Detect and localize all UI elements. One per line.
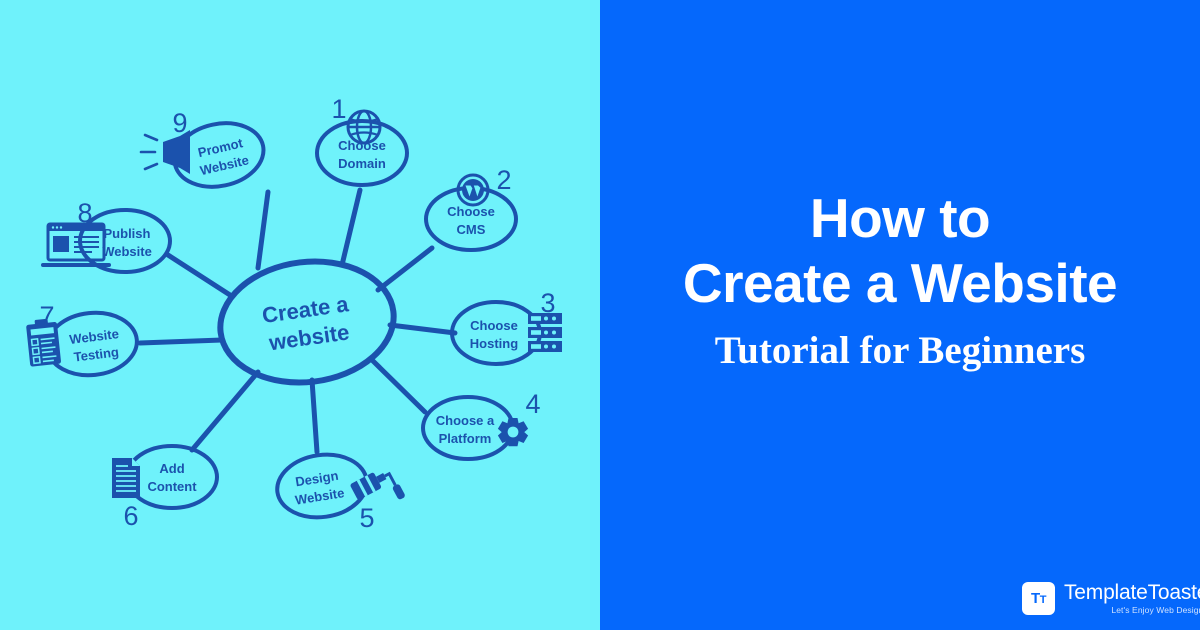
brand-name: TemplateToaster [1064, 582, 1200, 603]
node-1-choose-domain[interactable]: 1 Choose Domain [317, 94, 407, 185]
node-6-add-content[interactable]: 6 Add Content [112, 446, 217, 531]
gear-icon [498, 418, 528, 446]
center-node[interactable]: Create a website [213, 252, 400, 392]
headline-block: How to Create a Website Tutorial for Beg… [600, 186, 1200, 380]
laptop-browser-icon [43, 224, 109, 265]
node-7-label-line1: Website [69, 326, 120, 347]
node-1-number: 1 [331, 94, 346, 124]
node-5-design-website[interactable]: 5 Design Website [273, 449, 406, 533]
connector-to-node-4 [372, 360, 425, 412]
node-8-number: 8 [77, 198, 92, 228]
mindmap-diagram: Create a website 1 Choose Domain [0, 0, 600, 630]
brand-logo-mark-letters: TT [1031, 591, 1046, 606]
node-3-choose-hosting[interactable]: 3 Choose Hosting [452, 288, 562, 364]
node-6-ellipse [127, 446, 217, 508]
node-2-number: 2 [496, 165, 511, 195]
infographic-canvas: Create a website 1 Choose Domain [0, 0, 1200, 630]
node-3-number: 3 [540, 288, 555, 318]
node-4-label-line2: Platform [439, 431, 492, 446]
node-7-website-testing[interactable]: 7 Website Testing [26, 301, 140, 380]
node-8-label-line1: Publish [104, 226, 151, 241]
node-3-label-line2: Hosting [470, 336, 518, 351]
brand-mark-letter-big: T [1031, 590, 1040, 607]
node-4-number: 4 [525, 389, 540, 419]
headline-line-1: How to [600, 186, 1200, 250]
node-2-label-line2: CMS [457, 222, 486, 237]
node-2-label-line1: Choose [447, 204, 495, 219]
node-9-number: 9 [172, 108, 187, 138]
node-6-label-line2: Content [147, 479, 197, 494]
node-1-ellipse [317, 121, 407, 185]
connector-to-node-6 [192, 372, 258, 450]
node-9-promot-website[interactable]: 9 Promot Website [141, 108, 269, 195]
brand-mark-letter-small: T [1040, 594, 1046, 606]
connector-to-node-5 [312, 380, 317, 452]
node-2-choose-cms[interactable]: 2 Choose CMS [426, 165, 516, 250]
connector-to-node-2 [378, 248, 432, 290]
node-7-number: 7 [39, 301, 54, 331]
node-6-number: 6 [123, 501, 138, 531]
paint-roller-icon [350, 464, 406, 517]
headline-line-2: Create a Website [600, 250, 1200, 316]
server-rack-icon [528, 313, 562, 352]
wordpress-icon [458, 175, 488, 205]
node-1-label-line2: Domain [338, 156, 386, 171]
node-8-publish-website[interactable]: 8 Publish Website [43, 198, 170, 272]
document-icon [112, 458, 140, 498]
brand-tagline: Let's Enjoy Web Designing [1064, 606, 1200, 615]
node-4-label-line1: Choose a [436, 413, 495, 428]
connector-to-node-1 [342, 190, 360, 265]
connector-to-node-8 [168, 255, 230, 295]
connector-to-node-3 [390, 325, 455, 333]
headline-subtitle: Tutorial for Beginners [600, 322, 1200, 380]
brand-logo-text: TemplateToaster Let's Enjoy Web Designin… [1064, 582, 1200, 615]
node-7-label-line2: Testing [73, 344, 120, 364]
node-3-ellipse [452, 302, 540, 364]
brand-logo[interactable]: TT TemplateToaster Let's Enjoy Web Desig… [1022, 582, 1200, 615]
connector-to-node-9 [258, 192, 268, 268]
node-6-label-line1: Add [159, 461, 184, 476]
node-8-label-line2: Website [102, 244, 152, 259]
brand-logo-mark: TT [1022, 582, 1055, 615]
node-5-number: 5 [359, 503, 374, 533]
connector-to-node-7 [140, 340, 222, 343]
node-1-label-line1: Choose [338, 138, 386, 153]
node-4-choose-a-platform[interactable]: 4 Choose a Platform [423, 389, 541, 459]
node-3-label-line1: Choose [470, 318, 518, 333]
center-ellipse [213, 252, 400, 392]
